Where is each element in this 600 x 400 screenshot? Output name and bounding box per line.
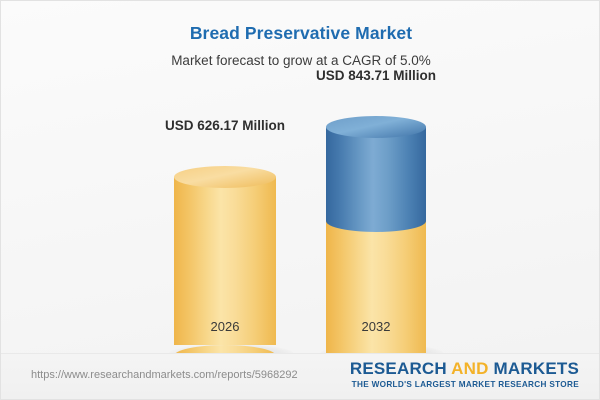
- bar-value-label-2026: USD 626.17 Million: [165, 118, 285, 133]
- logo-tagline: THE WORLD'S LARGEST MARKET RESEARCH STOR…: [350, 380, 579, 389]
- logo-word-markets: MARKETS: [489, 359, 579, 378]
- chart-card: Bread Preservative Market Market forecas…: [0, 0, 600, 400]
- logo-word-and: AND: [451, 359, 488, 378]
- bar-category-label-2026: 2026: [211, 319, 240, 334]
- bar-category-label-2032: 2032: [362, 319, 391, 334]
- bar-value-label-2032: USD 843.71 Million: [316, 68, 436, 83]
- logo-word-research: RESEARCH: [350, 359, 451, 378]
- logo-wordmark: RESEARCH AND MARKETS: [350, 360, 579, 378]
- footer: https://www.researchandmarkets.com/repor…: [1, 353, 600, 399]
- logo[interactable]: RESEARCH AND MARKETS THE WORLD'S LARGEST…: [350, 360, 579, 389]
- source-url-link[interactable]: https://www.researchandmarkets.com/repor…: [31, 369, 298, 381]
- bar-segment-growth-2032: [326, 116, 426, 221]
- bar-segment-base-2032: [326, 221, 426, 356]
- chart-plot-area: USD 626.17 Million 2026 USD 843.71 Milli…: [1, 1, 600, 356]
